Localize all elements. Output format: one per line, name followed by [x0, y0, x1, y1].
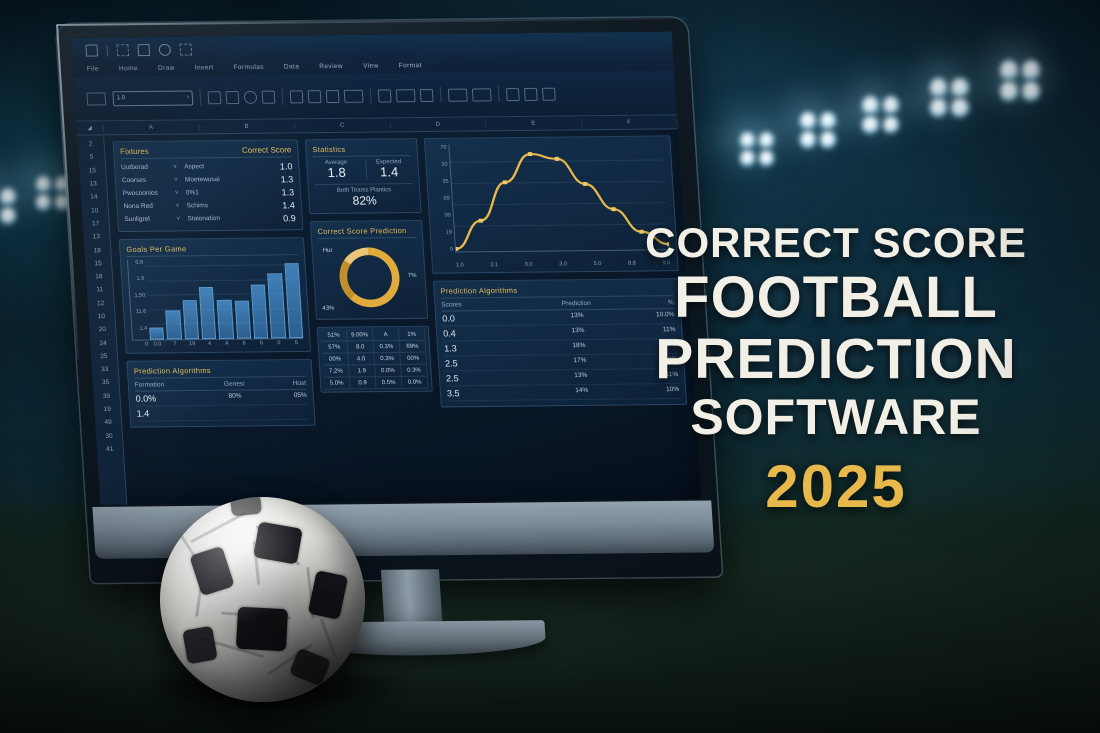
- ball-seam: [320, 618, 336, 657]
- fixture-score: 1.4: [268, 200, 295, 210]
- row-number[interactable]: 2: [77, 137, 104, 151]
- prediction-right-score: 2.5: [445, 357, 543, 368]
- chevron-down-icon[interactable]: ˅: [174, 176, 181, 183]
- numeric-grid-cell[interactable]: 57%: [321, 342, 348, 353]
- ribbon-divider-2: [281, 89, 283, 105]
- bar-x-tick: 0.0: [150, 341, 165, 347]
- tab-format[interactable]: Format: [398, 62, 421, 69]
- header-host: Host: [262, 380, 307, 387]
- italic-icon[interactable]: [226, 90, 240, 103]
- row-number[interactable]: 24: [90, 336, 117, 350]
- stat-expected-value: 1.4: [366, 165, 412, 180]
- numeric-grid-cell[interactable]: 0.5%: [376, 377, 403, 388]
- line-y-tick: 09: [434, 196, 450, 202]
- select-all-icon[interactable]: ◢: [76, 124, 103, 131]
- correct-score-prediction-card: Correct Score Prediction Hur 7% 43%: [310, 220, 428, 320]
- stat-average: Average 1.8: [313, 160, 360, 181]
- numeric-grid-cell[interactable]: 0.3%: [401, 365, 428, 376]
- bar-y-tick: 0: [132, 342, 148, 348]
- toolbar-divider: [106, 45, 108, 56]
- currency-icon[interactable]: [378, 89, 392, 102]
- row-number[interactable]: 41: [96, 443, 123, 457]
- goals-per-game-card: Goals Per Game 0.81.91.5011.61.40: [119, 237, 311, 354]
- header-prediction: Prediction: [539, 300, 614, 308]
- ball-pentagon: [182, 626, 217, 665]
- fixture-team: Coorses: [122, 177, 171, 184]
- chevron-down-icon[interactable]: ›: [187, 95, 189, 101]
- headline-block: CORRECT SCORE FOOTBALL PREDICTION SOFTWA…: [626, 222, 1046, 521]
- number-group[interactable]: [378, 88, 434, 102]
- bar: [166, 310, 182, 339]
- prediction-right-prediction: 13%: [543, 372, 619, 383]
- name-box-value: 1.0: [117, 95, 126, 101]
- bar-x-tick: 5: [289, 340, 304, 346]
- dashboard-column-middle: Statistics Average 1.8 Expected 1.4: [305, 138, 440, 502]
- alignment-group[interactable]: [290, 89, 364, 103]
- fixture-score: 1.0: [266, 161, 293, 171]
- row-number[interactable]: 30: [96, 429, 123, 443]
- bar-x-tick: 0: [272, 340, 287, 346]
- line-y-tick: 0: [437, 247, 453, 253]
- bar: [284, 263, 303, 338]
- row-number[interactable]: 13: [80, 177, 107, 191]
- prediction-right-prediction: 14%: [544, 387, 620, 398]
- column-header-b[interactable]: B: [199, 123, 295, 130]
- tab-draw[interactable]: Draw: [158, 64, 175, 71]
- prediction-algorithms-left-card: Prediction Algorithms Formation Genesi H…: [126, 359, 315, 428]
- line-marker: [583, 182, 588, 186]
- numeric-grid-cell[interactable]: 0.9: [350, 377, 377, 388]
- row-number[interactable]: 39: [93, 389, 120, 403]
- row-number[interactable]: 15: [85, 257, 112, 271]
- numeric-grid-cell[interactable]: 0.0%: [375, 365, 402, 376]
- numeric-grid-cell[interactable]: 1%: [399, 329, 426, 340]
- column-header-a[interactable]: A: [103, 124, 199, 131]
- donut-label-top: Hur: [323, 248, 333, 254]
- line-x-tick: 5.0: [594, 261, 602, 267]
- fixture-score: 1.3: [268, 187, 295, 197]
- prediction-left-host: [263, 407, 308, 417]
- font-color-icon[interactable]: [244, 90, 258, 103]
- row-number[interactable]: 19: [94, 403, 121, 417]
- bar: [149, 327, 164, 339]
- line-y-tick: 19: [436, 230, 452, 236]
- bar-chart-plot: [127, 258, 303, 341]
- border-icon[interactable]: [262, 90, 276, 103]
- numeric-grid-row[interactable]: 51%9.00%A1%: [321, 329, 426, 342]
- statistics-title: Statistics: [312, 144, 411, 157]
- prediction-right-score: 0.0: [442, 313, 540, 324]
- prediction-right-prediction: 18%: [541, 342, 617, 353]
- ribbon-divider: [199, 89, 201, 105]
- prediction-left-host: 05%: [262, 392, 307, 402]
- row-number[interactable]: 20: [89, 323, 116, 337]
- statistics-card: Statistics Average 1.8 Expected 1.4: [305, 138, 422, 214]
- row-number[interactable]: 15: [79, 164, 106, 178]
- monitor-screen: File Home Draw Insert Formulas Data Revi…: [71, 32, 701, 505]
- desktop-monitor: File Home Draw Insert Formulas Data Revi…: [56, 17, 722, 583]
- stat-expected: Expected 1.4: [365, 159, 413, 180]
- bar-x-tick: 6: [237, 341, 252, 347]
- line-y-tick: 70: [430, 145, 446, 151]
- column-header-f[interactable]: F: [582, 119, 678, 126]
- row-number[interactable]: 5: [78, 151, 105, 165]
- fixtures-title: Fixtures: [120, 147, 149, 156]
- headline-line-1: CORRECT SCORE: [626, 222, 1046, 264]
- line-y-tick: 35: [432, 179, 448, 185]
- numeric-grid-cell[interactable]: 00%: [400, 353, 427, 364]
- tab-review[interactable]: Review: [319, 62, 343, 69]
- fixture-score: 1.3: [267, 174, 294, 184]
- donut-chart: Hur 7% 43%: [318, 241, 421, 314]
- headline-year: 2025: [626, 452, 1046, 521]
- fixture-score: 0.9: [269, 213, 296, 223]
- numeric-grid-cell[interactable]: 4.0: [348, 354, 375, 365]
- line-x-tick: 1.0: [456, 262, 464, 268]
- chevron-down-icon[interactable]: ˅: [173, 164, 180, 171]
- align-left-icon[interactable]: [290, 90, 304, 103]
- spreadsheet-app: File Home Draw Insert Formulas Data Revi…: [71, 32, 701, 505]
- fixture-opponent: 0%1: [186, 189, 265, 197]
- tab-home[interactable]: Home: [119, 65, 138, 72]
- font-group[interactable]: [207, 90, 275, 104]
- prediction-right-prediction: 17%: [542, 357, 618, 368]
- fixture-opponent: Stalonation: [187, 215, 266, 223]
- stat-footer-value: 82%: [315, 193, 414, 208]
- cells-group[interactable]: [506, 87, 556, 100]
- column-header-c[interactable]: C: [295, 122, 391, 129]
- row-number[interactable]: 11: [86, 283, 113, 297]
- line-marker: [503, 180, 508, 184]
- row-number[interactable]: 14: [81, 190, 108, 204]
- prediction-left-title: Prediction Algorithms: [134, 365, 306, 379]
- header-genesi: Genesi: [206, 380, 262, 388]
- fixture-team: Sunligrel: [124, 216, 173, 223]
- prediction-left-genesi: 80%: [207, 392, 263, 403]
- insert-cell-icon[interactable]: [506, 88, 520, 101]
- tab-insert[interactable]: Insert: [195, 64, 214, 71]
- row-number[interactable]: 13: [83, 230, 110, 244]
- line-marker: [479, 219, 484, 223]
- undo-icon[interactable]: [116, 44, 129, 56]
- ball-pentagon: [253, 521, 303, 564]
- donut-label-right: 7%: [408, 273, 417, 279]
- chevron-down-icon[interactable]: ˅: [175, 202, 182, 209]
- headline-line-4: SOFTWARE: [626, 392, 1046, 442]
- ball-pentagon: [308, 570, 348, 620]
- prediction-left-value: 0.0%: [135, 393, 207, 404]
- header-scores: Scores: [441, 301, 539, 309]
- fixture-team: Pwocoonios: [123, 190, 172, 197]
- fixture-opponent: Aspect: [184, 163, 263, 171]
- tab-data[interactable]: Data: [284, 63, 300, 70]
- numeric-grid-cell[interactable]: 51%: [321, 330, 348, 341]
- prediction-right-score: 3.5: [447, 387, 545, 398]
- percent-icon[interactable]: [396, 89, 416, 102]
- statistics-tiles: Average 1.8 Expected 1.4: [313, 159, 412, 180]
- bar-x-tick: A: [220, 341, 235, 347]
- bar: [199, 287, 217, 339]
- dashboard-column-left: Fixtures Correct Score Uutberad ˅ Aspect…: [112, 139, 320, 504]
- numeric-grid-card: 51%9.00%A1%57%8.00.3%69%00%4.00.3%00%7.2…: [317, 326, 433, 393]
- numeric-grid-row[interactable]: 5.0%0.90.5%0.0%: [324, 377, 429, 390]
- fixture-team: Uutberad: [121, 164, 170, 171]
- bold-icon[interactable]: [207, 91, 221, 104]
- bar-x-tick: 7: [167, 341, 182, 347]
- numeric-grid-row[interactable]: 57%8.00.3%69%: [321, 341, 426, 354]
- tab-view[interactable]: View: [363, 62, 379, 69]
- prediction-right-score: 0.4: [443, 328, 541, 339]
- bar: [234, 301, 251, 339]
- row-number[interactable]: 18: [84, 244, 111, 258]
- redo-icon[interactable]: [137, 44, 150, 56]
- ribbon-divider-3: [370, 88, 372, 104]
- bar: [251, 284, 269, 338]
- fixture-opponent: Schims: [186, 202, 265, 210]
- line-x-tick: 2.1: [490, 262, 498, 268]
- numeric-grid-cell[interactable]: 0.0%: [402, 377, 429, 388]
- row-number[interactable]: 35: [92, 376, 119, 390]
- save-icon[interactable]: [85, 45, 98, 57]
- line-y-tick: 00: [435, 213, 451, 219]
- numeric-grid-cell[interactable]: 0.3%: [374, 341, 401, 352]
- fixtures-table[interactable]: Uutberad ˅ Aspect 1.0Coorses ˅ Moetewusa…: [121, 159, 296, 226]
- column-header-d[interactable]: D: [390, 121, 486, 128]
- table-style-icon[interactable]: [472, 88, 492, 101]
- row-number[interactable]: 10: [88, 310, 115, 324]
- numeric-grid-cell[interactable]: 5.0%: [324, 378, 351, 389]
- goals-per-game-title: Goals Per Game: [126, 243, 298, 257]
- paste-icon[interactable]: [86, 92, 106, 105]
- align-center-icon[interactable]: [308, 90, 322, 103]
- chevron-down-icon[interactable]: ˅: [176, 215, 183, 222]
- bar-x-tick: 19: [185, 341, 200, 347]
- prediction-right-prediction: 13%: [539, 312, 615, 323]
- row-number[interactable]: 12: [87, 297, 114, 311]
- merge-cells-icon[interactable]: [344, 89, 364, 102]
- numeric-grid-cell[interactable]: 7.2%: [323, 366, 350, 377]
- prediction-right-score: 2.5: [446, 372, 544, 383]
- tab-file[interactable]: File: [87, 65, 100, 72]
- line-x-tick: 3.0: [559, 261, 567, 267]
- stat-both-teams-score: Both Teams Plantics 82%: [315, 183, 415, 208]
- prediction-right-prediction: 13%: [540, 327, 616, 338]
- decimal-icon[interactable]: [420, 88, 434, 101]
- line-marker: [555, 157, 560, 161]
- bar-x-tick: 6: [254, 340, 269, 346]
- prediction-left-genesi: [208, 407, 264, 418]
- headline-line-3: PREDICTION: [626, 331, 1046, 388]
- numeric-grid-row[interactable]: 7.2%1.90.0%0.3%: [323, 365, 428, 378]
- ribbon-divider-4: [440, 87, 442, 103]
- column-header-e[interactable]: E: [486, 120, 582, 127]
- fixtures-card: Fixtures Correct Score Uutberad ˅ Aspect…: [112, 139, 303, 232]
- sheet-body: 2515131410171318151811121020242533353919…: [77, 129, 701, 505]
- numeric-grid-cell[interactable]: 8.0: [348, 342, 375, 353]
- line-y-tick: 20: [431, 162, 447, 168]
- promo-banner: File Home Draw Insert Formulas Data Revi…: [0, 0, 1100, 733]
- numeric-grid-cell[interactable]: 9.00%: [347, 330, 374, 341]
- name-box[interactable]: 1.0 ›: [112, 90, 193, 106]
- fixture-opponent: Moetewusai: [185, 176, 264, 184]
- align-right-icon[interactable]: [326, 89, 340, 102]
- line-marker: [528, 152, 533, 156]
- delete-cell-icon[interactable]: [524, 87, 538, 100]
- ribbon-toolbar[interactable]: 1.0 ›: [73, 70, 677, 121]
- header-formation: Formation: [135, 381, 207, 389]
- styles-group[interactable]: [448, 88, 492, 101]
- clipboard-group[interactable]: [86, 92, 106, 105]
- numeric-grid-cell[interactable]: 1.9: [349, 366, 376, 377]
- bar: [217, 300, 234, 339]
- stat-average-value: 1.8: [313, 166, 359, 181]
- prediction-left-row[interactable]: 1.4: [136, 405, 308, 422]
- bar: [267, 273, 285, 338]
- ball-pentagon: [230, 497, 262, 517]
- dashboard-grid: Fixtures Correct Score Uutberad ˅ Aspect…: [104, 129, 701, 504]
- row-number[interactable]: 33: [91, 363, 118, 377]
- line-marker: [611, 207, 616, 211]
- ball-pentagon: [236, 607, 288, 652]
- prediction-right-score: 1.3: [444, 342, 542, 353]
- correct-score-header: Correct Score: [242, 145, 292, 154]
- soccer-ball: [160, 497, 365, 702]
- numeric-grid-table[interactable]: 51%9.00%A1%57%8.00.3%69%00%4.00.3%00%7.2…: [321, 329, 429, 390]
- headline-line-2: FOOTBALL: [626, 269, 1046, 327]
- row-number[interactable]: 25: [91, 350, 118, 364]
- numeric-grid-row[interactable]: 00%4.00.3%00%: [322, 353, 427, 366]
- donut-label-bottom: 43%: [322, 306, 334, 312]
- prediction-left-table[interactable]: Formation Genesi Host 0.0%80%05%1.4: [135, 380, 309, 422]
- fixture-team: Nona Red: [123, 203, 172, 210]
- bar-x-tick: 4: [202, 341, 217, 347]
- line-marker: [454, 247, 459, 251]
- donut-title: Correct Score Prediction: [317, 226, 416, 239]
- donut-ring: [338, 247, 402, 308]
- row-number[interactable]: 10: [81, 204, 108, 218]
- numeric-grid-cell[interactable]: 0.3%: [374, 353, 401, 364]
- row-number[interactable]: 49: [95, 416, 122, 430]
- row-number[interactable]: 18: [86, 270, 113, 284]
- bar-chart-x-axis: 0.07194A6605: [132, 340, 304, 348]
- chevron-down-icon[interactable]: ˅: [175, 189, 182, 196]
- line-x-tick: 3.0: [525, 262, 533, 268]
- prediction-left-value: 1.4: [136, 408, 208, 419]
- numeric-grid-cell[interactable]: 69%: [400, 341, 427, 352]
- print-icon[interactable]: [158, 44, 171, 56]
- fixture-row[interactable]: Sunligrel ˅ Stalonation 0.9: [124, 211, 296, 226]
- numeric-grid-cell[interactable]: A: [373, 329, 400, 340]
- bar: [182, 301, 199, 340]
- autofilter-icon[interactable]: [179, 44, 192, 56]
- tab-formulas[interactable]: Formulas: [233, 63, 264, 70]
- ball-pentagon: [189, 546, 234, 596]
- conditional-format-icon[interactable]: [448, 88, 468, 101]
- row-number[interactable]: 17: [82, 217, 109, 231]
- format-cell-icon[interactable]: [542, 87, 556, 100]
- ribbon-divider-5: [498, 86, 500, 102]
- numeric-grid-cell[interactable]: 00%: [322, 354, 349, 365]
